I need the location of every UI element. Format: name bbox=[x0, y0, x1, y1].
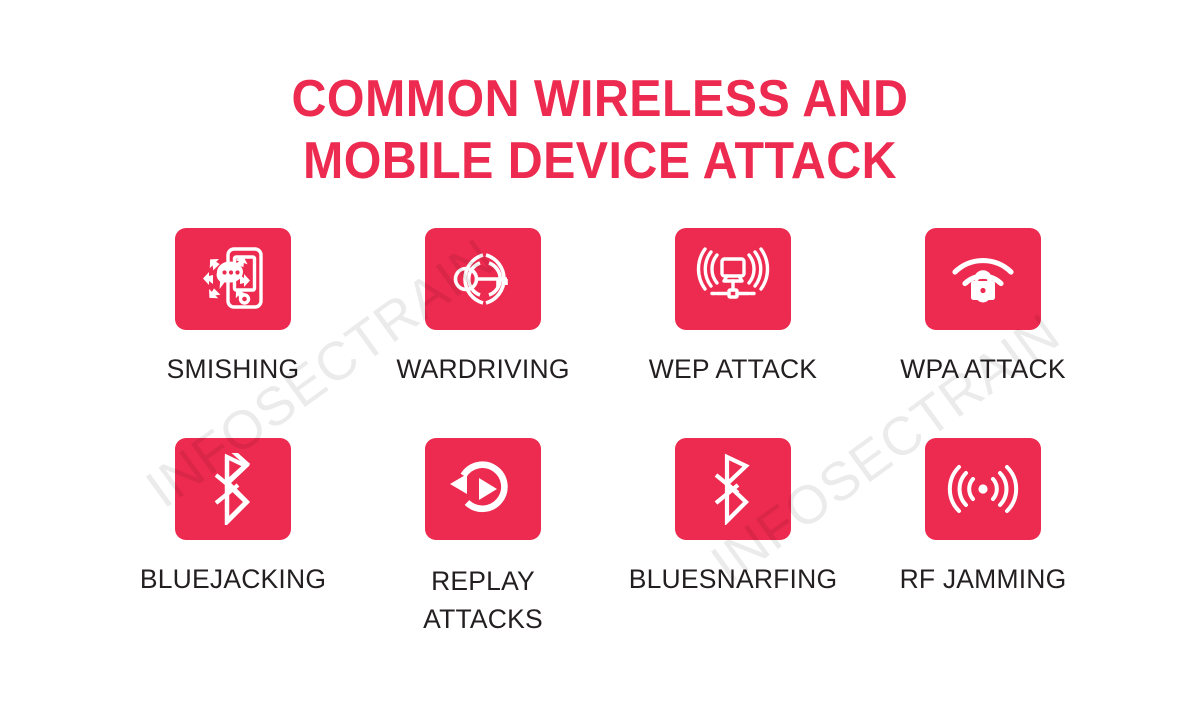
attack-item-label: BLUESNARFING bbox=[629, 562, 838, 596]
attack-item-bluejacking: BLUEJACKING bbox=[108, 438, 358, 648]
attack-item-label: WEP ATTACK bbox=[649, 352, 817, 386]
page-title: COMMON WIRELESS AND MOBILE DEVICE ATTACK bbox=[0, 68, 1200, 192]
icon-tile bbox=[925, 228, 1041, 330]
attack-item-label: RF JAMMING bbox=[900, 562, 1067, 596]
phone-chat-bubble-arrows-icon bbox=[196, 242, 270, 316]
wifi-padlock-icon bbox=[943, 246, 1023, 312]
attack-item-rf-jamming: RF JAMMING bbox=[858, 438, 1108, 648]
icon-tile bbox=[175, 228, 291, 330]
attack-item-label-line-2: ATTACKS bbox=[423, 600, 543, 638]
bluetooth-icon bbox=[210, 453, 256, 525]
page-title-line-1: COMMON WIRELESS AND bbox=[42, 68, 1158, 130]
radio-broadcast-waves-icon bbox=[945, 456, 1021, 522]
attack-item-label-line-1: REPLAY bbox=[423, 562, 543, 600]
replay-circle-play-icon bbox=[445, 457, 521, 521]
attack-item-label: WPA ATTACK bbox=[900, 352, 1065, 386]
monitor-network-waves-icon bbox=[693, 246, 773, 312]
attack-item-label: SMISHING bbox=[167, 352, 300, 386]
icon-tile bbox=[425, 228, 541, 330]
key-signal-waves-icon bbox=[446, 247, 520, 311]
attack-item-wardriving: WARDRIVING bbox=[358, 228, 608, 438]
icon-tile bbox=[675, 228, 791, 330]
page-title-line-2: MOBILE DEVICE ATTACK bbox=[42, 130, 1158, 192]
icon-tile bbox=[175, 438, 291, 540]
attack-item-label: REPLAY ATTACKS bbox=[423, 562, 543, 638]
attack-grid: SMISHING bbox=[108, 228, 1108, 648]
attack-item-label: BLUEJACKING bbox=[140, 562, 326, 596]
infographic-canvas: INFOSECTRAIN INFOSECTRAIN COMMON WIRELES… bbox=[0, 0, 1200, 720]
icon-tile bbox=[925, 438, 1041, 540]
icon-tile bbox=[425, 438, 541, 540]
attack-item-replay-attacks: REPLAY ATTACKS bbox=[358, 438, 608, 648]
bluetooth-icon bbox=[710, 453, 756, 525]
attack-item-wpa-attack: WPA ATTACK bbox=[858, 228, 1108, 438]
attack-item-wep-attack: WEP ATTACK bbox=[608, 228, 858, 438]
icon-tile bbox=[675, 438, 791, 540]
attack-item-smishing: SMISHING bbox=[108, 228, 358, 438]
attack-item-label: WARDRIVING bbox=[396, 352, 569, 386]
attack-item-bluesnarfing: BLUESNARFING bbox=[608, 438, 858, 648]
